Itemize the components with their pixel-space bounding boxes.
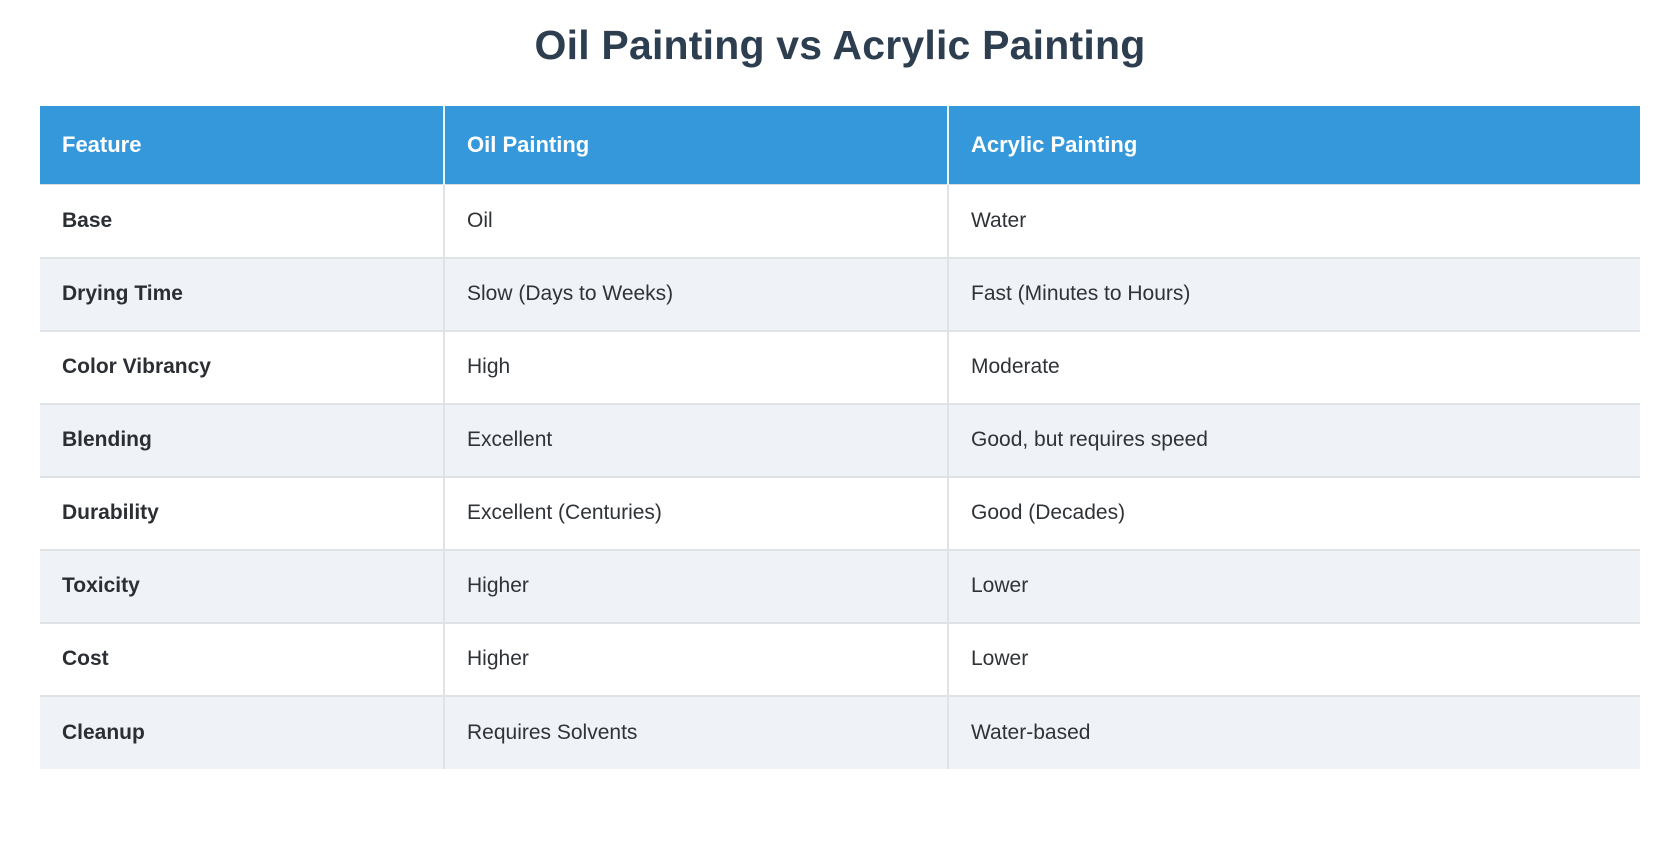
- cell-oil-painting: Higher: [444, 623, 948, 696]
- table-header-row: Feature Oil Painting Acrylic Painting: [40, 106, 1640, 185]
- cell-acrylic-painting: Water-based: [948, 696, 1640, 769]
- cell-feature: Blending: [40, 404, 444, 477]
- table-row: BlendingExcellentGood, but requires spee…: [40, 404, 1640, 477]
- cell-feature: Durability: [40, 477, 444, 550]
- cell-feature: Cost: [40, 623, 444, 696]
- cell-feature: Color Vibrancy: [40, 331, 444, 404]
- cell-acrylic-painting: Fast (Minutes to Hours): [948, 258, 1640, 331]
- comparison-table-page: Oil Painting vs Acrylic Painting Feature…: [0, 0, 1680, 862]
- table-row: BaseOilWater: [40, 185, 1640, 258]
- table-row: Color VibrancyHighModerate: [40, 331, 1640, 404]
- cell-acrylic-painting: Good (Decades): [948, 477, 1640, 550]
- table-row: DurabilityExcellent (Centuries)Good (Dec…: [40, 477, 1640, 550]
- column-header-acrylic-painting[interactable]: Acrylic Painting: [948, 106, 1640, 185]
- table-body: BaseOilWaterDrying TimeSlow (Days to Wee…: [40, 185, 1640, 769]
- cell-oil-painting: Higher: [444, 550, 948, 623]
- table-header: Feature Oil Painting Acrylic Painting: [40, 106, 1640, 185]
- cell-acrylic-painting: Good, but requires speed: [948, 404, 1640, 477]
- cell-oil-painting: High: [444, 331, 948, 404]
- comparison-table: Feature Oil Painting Acrylic Painting Ba…: [40, 106, 1640, 769]
- cell-oil-painting: Excellent: [444, 404, 948, 477]
- cell-acrylic-painting: Moderate: [948, 331, 1640, 404]
- cell-acrylic-painting: Lower: [948, 550, 1640, 623]
- cell-oil-painting: Requires Solvents: [444, 696, 948, 769]
- cell-feature: Cleanup: [40, 696, 444, 769]
- cell-feature: Base: [40, 185, 444, 258]
- cell-feature: Drying Time: [40, 258, 444, 331]
- cell-oil-painting: Slow (Days to Weeks): [444, 258, 948, 331]
- table-row: CleanupRequires SolventsWater-based: [40, 696, 1640, 769]
- table-row: ToxicityHigherLower: [40, 550, 1640, 623]
- page-title: Oil Painting vs Acrylic Painting: [40, 22, 1640, 69]
- table-row: Drying TimeSlow (Days to Weeks)Fast (Min…: [40, 258, 1640, 331]
- cell-acrylic-painting: Water: [948, 185, 1640, 258]
- cell-oil-painting: Excellent (Centuries): [444, 477, 948, 550]
- column-header-feature[interactable]: Feature: [40, 106, 444, 185]
- comparison-table-container: Feature Oil Painting Acrylic Painting Ba…: [40, 106, 1640, 769]
- table-row: CostHigherLower: [40, 623, 1640, 696]
- column-header-oil-painting[interactable]: Oil Painting: [444, 106, 948, 185]
- cell-feature: Toxicity: [40, 550, 444, 623]
- cell-oil-painting: Oil: [444, 185, 948, 258]
- cell-acrylic-painting: Lower: [948, 623, 1640, 696]
